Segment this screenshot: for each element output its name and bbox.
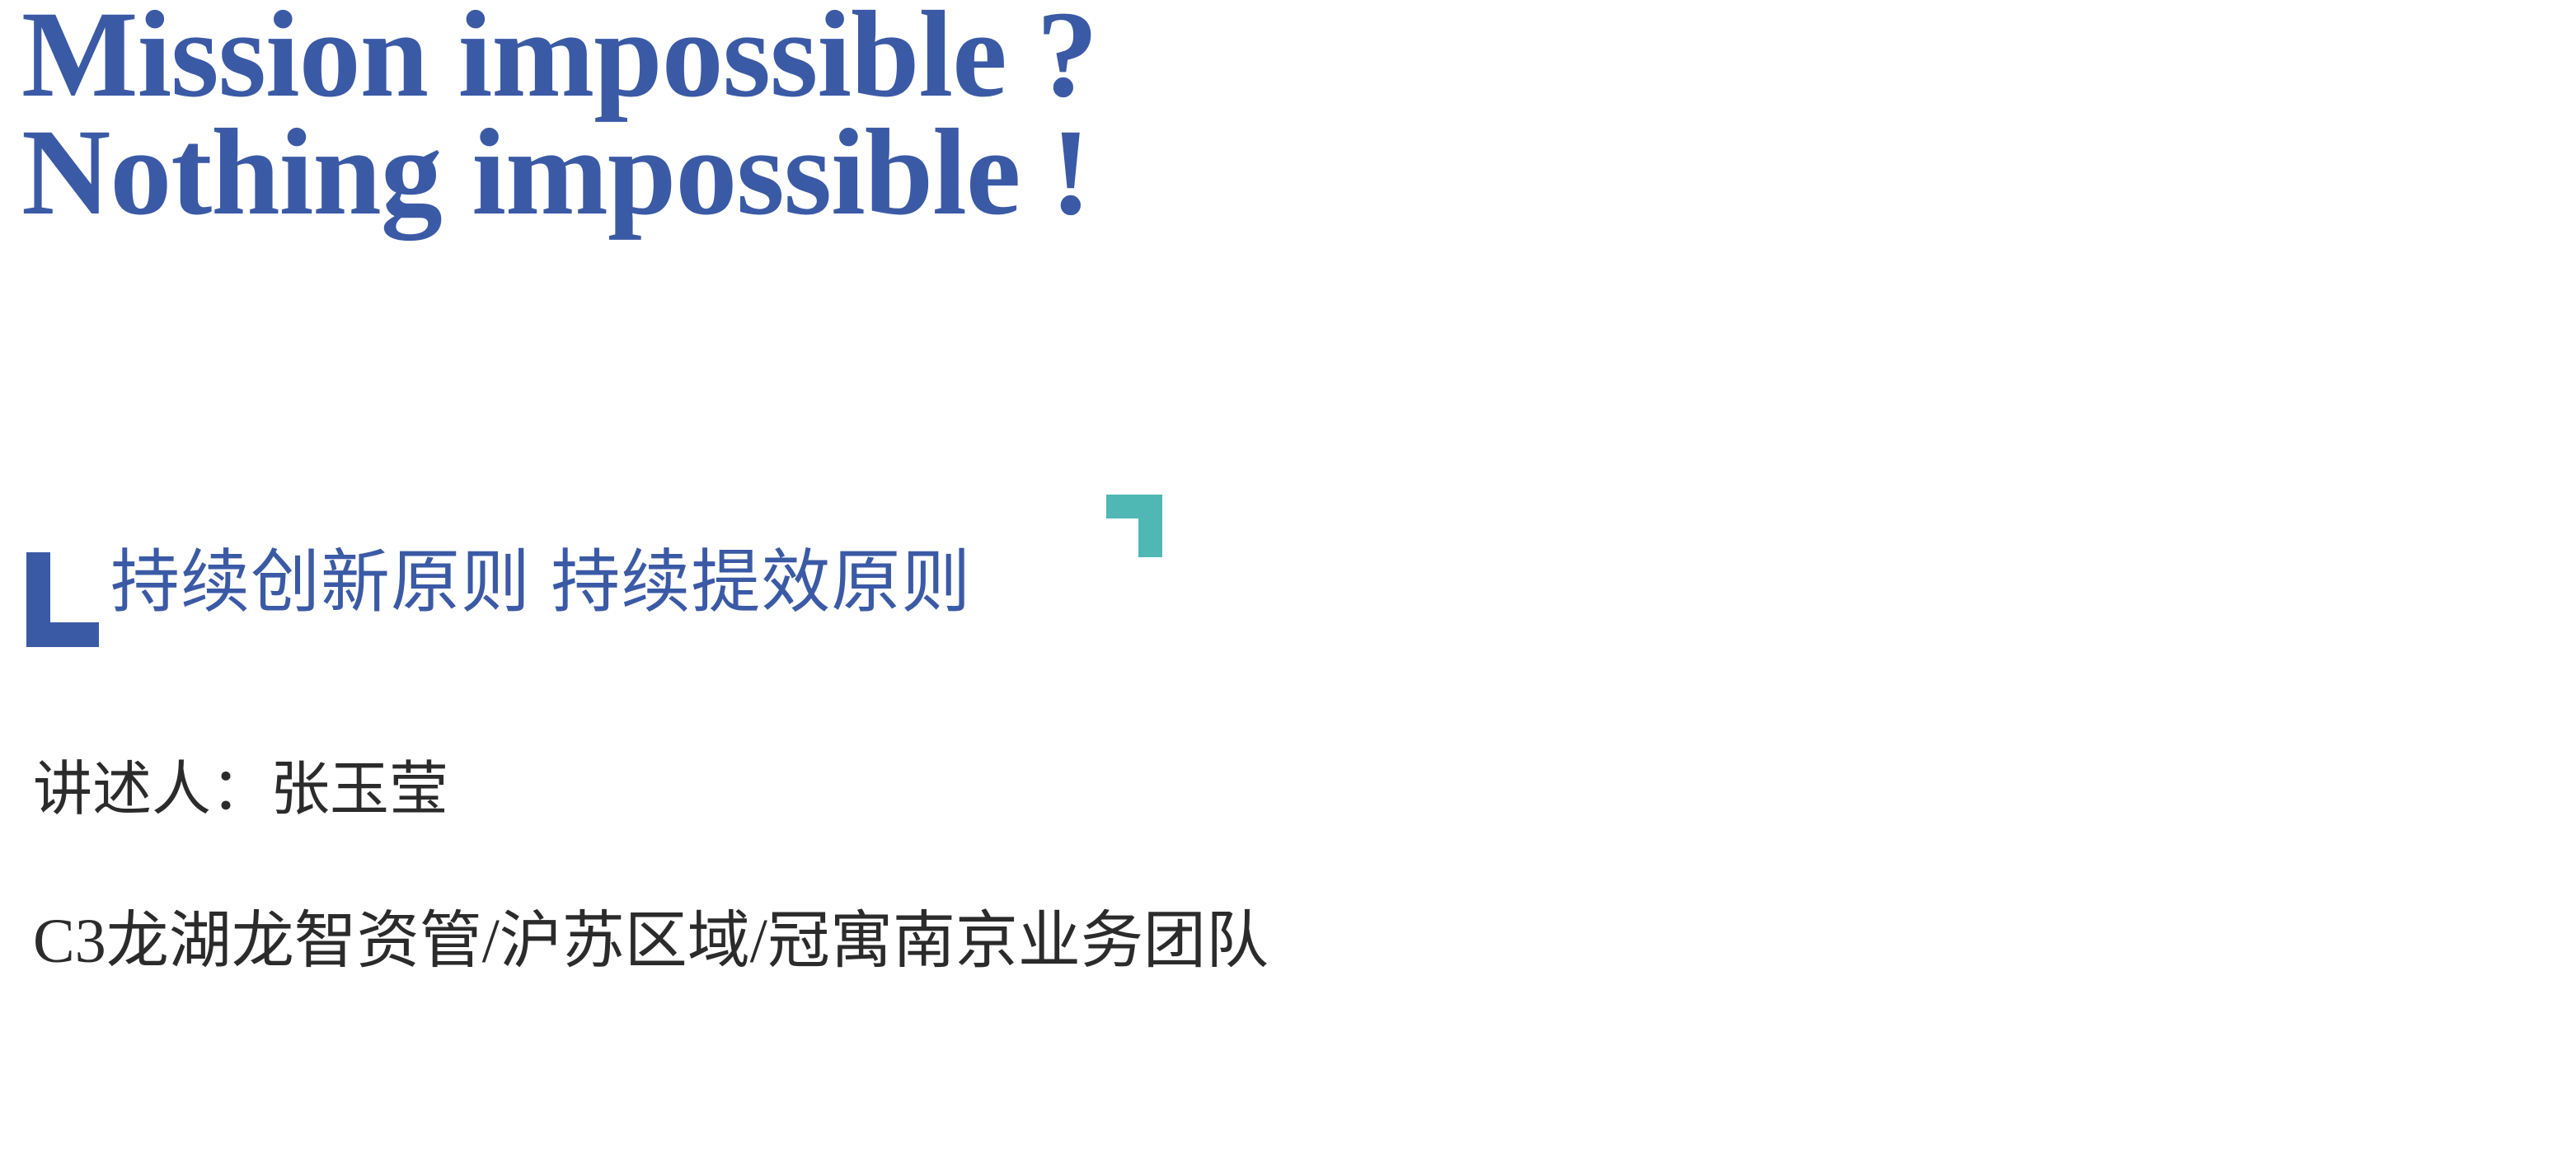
headline-line-1: Mission impossible ?: [21, 2, 1835, 107]
corner-bracket-left-icon: [26, 552, 99, 647]
bracket-left-horizontal-bar: [26, 622, 99, 647]
presenter-name: 讲述人：张玉莹: [33, 750, 2011, 829]
presenter-block: 讲述人：张玉莹 C3龙湖龙智资管/沪苏区域/冠寓南京业务团队: [33, 750, 2011, 983]
subtitle-block: 持续创新原则 持续提效原则: [20, 482, 1256, 659]
presenter-team: C3龙湖龙智资管/沪苏区域/冠寓南京业务团队: [33, 900, 2011, 983]
corner-bracket-right-icon: [1106, 495, 1162, 557]
headline-line-2: Nothing impossible !: [21, 120, 1835, 225]
headline-block: Mission impossible ? Nothing impossible …: [21, 2, 1835, 225]
subtitle-text: 持续创新原则 持续提效原则: [110, 537, 971, 627]
slide-canvas: Mission impossible ? Nothing impossible …: [0, 0, 2576, 1154]
bracket-right-vertical-bar: [1138, 495, 1162, 557]
